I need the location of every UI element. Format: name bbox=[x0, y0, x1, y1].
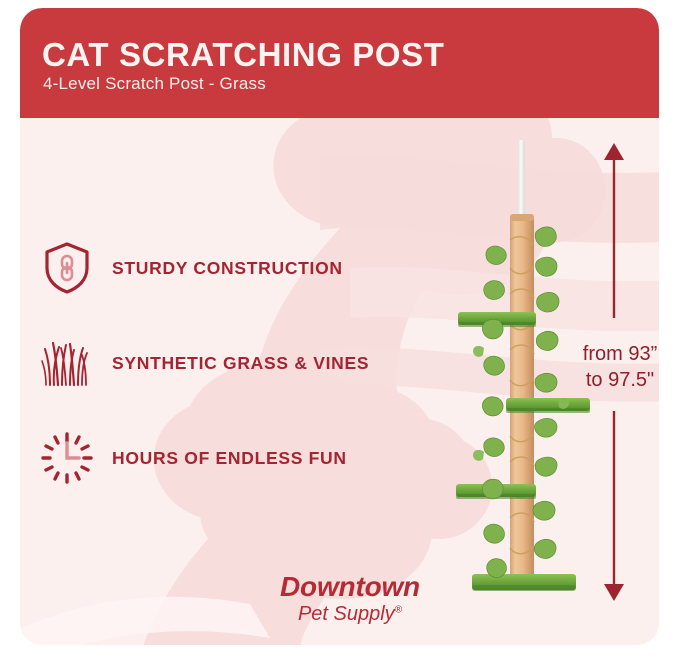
logo-line-1: Downtown bbox=[235, 573, 465, 601]
dimension-line-1: from 93” bbox=[560, 341, 659, 367]
product-card: CAT SCRATCHING POST 4-Level Scratch Post… bbox=[20, 8, 659, 645]
logo-text: Pet Supply bbox=[298, 603, 395, 625]
arrow-up-icon bbox=[604, 143, 624, 160]
dimension-indicator: from 93” to 97.5" bbox=[560, 133, 659, 613]
logo-line-2: Pet Supply® bbox=[235, 604, 465, 624]
clock-icon bbox=[38, 429, 96, 487]
extension-pole bbox=[518, 140, 525, 218]
arrow-down-icon bbox=[604, 584, 624, 601]
feature-label: STURDY CONSTRUCTION bbox=[112, 258, 343, 279]
dimension-label: from 93” to 97.5" bbox=[560, 341, 659, 394]
infographic-root: CAT SCRATCHING POST 4-Level Scratch Post… bbox=[0, 0, 679, 662]
feature-label: SYNTHETIC GRASS & VINES bbox=[112, 353, 369, 374]
feature-item-endless-fun: HOURS OF ENDLESS FUN bbox=[38, 426, 347, 490]
registered-mark: ® bbox=[395, 604, 402, 615]
page-subtitle: 4-Level Scratch Post - Grass bbox=[43, 74, 266, 94]
feature-item-sturdy-construction: STURDY CONSTRUCTION bbox=[38, 236, 343, 300]
page-title: CAT SCRATCHING POST bbox=[42, 36, 445, 74]
dimension-line-2: to 97.5" bbox=[560, 367, 659, 393]
feature-label: HOURS OF ENDLESS FUN bbox=[112, 448, 347, 469]
feature-item-synthetic-grass: SYNTHETIC GRASS & VINES bbox=[38, 331, 369, 395]
header-banner: CAT SCRATCHING POST 4-Level Scratch Post… bbox=[20, 8, 659, 118]
shield-chain-icon bbox=[38, 239, 96, 297]
grass-blades-icon bbox=[38, 334, 96, 392]
brand-logo: Downtown Pet Supply® bbox=[235, 573, 465, 624]
